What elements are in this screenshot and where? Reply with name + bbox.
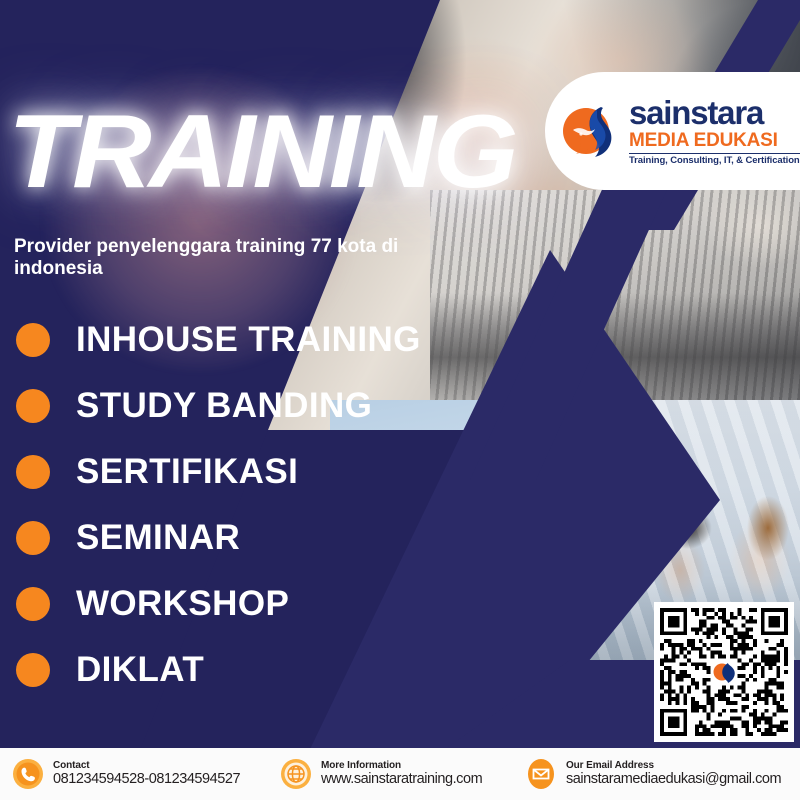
sainstara-flame-map-logo-icon (559, 100, 621, 162)
brand-name: sainstara (629, 96, 800, 129)
brand-tagline: Training, Consulting, IT, & Certificatio… (629, 153, 800, 166)
service-label: DIKLAT (76, 650, 204, 690)
globe-icon (280, 758, 312, 790)
brand-subtitle: MEDIA EDUKASI (629, 131, 800, 150)
page-title: TRAINING (8, 108, 515, 197)
bullet-icon (16, 455, 50, 489)
footer-value: www.sainstaratraining.com (321, 771, 482, 787)
bullet-icon (16, 389, 50, 423)
footer-item-email[interactable]: Our Email Address sainstaramediaedukasi@… (513, 758, 800, 790)
footer-label: Contact (53, 760, 240, 771)
list-item[interactable]: WORKSHOP (16, 576, 486, 632)
footer-item-website[interactable]: More Information www.sainstaratraining.c… (268, 758, 513, 790)
list-item[interactable]: DIKLAT (16, 642, 486, 698)
footer-text-email: Our Email Address sainstaramediaedukasi@… (566, 760, 781, 787)
footer-label: Our Email Address (566, 760, 781, 771)
envelope-icon (525, 758, 557, 790)
list-item[interactable]: STUDY BANDING (16, 378, 486, 434)
service-label: STUDY BANDING (76, 386, 372, 426)
footer-label: More Information (321, 760, 482, 771)
phone-icon (12, 758, 44, 790)
list-item[interactable]: INHOUSE TRAINING (16, 312, 486, 368)
brand-logo-card[interactable]: sainstara MEDIA EDUKASI Training, Consul… (545, 72, 800, 190)
bullet-icon (16, 587, 50, 621)
footer-text-contact: Contact 081234594528-081234594527 (53, 760, 240, 787)
brand-logo-text: sainstara MEDIA EDUKASI Training, Consul… (629, 96, 800, 166)
qr-center-logo-icon (712, 660, 736, 684)
footer-contact-bar: Contact 081234594528-081234594527 (0, 748, 800, 800)
footer-value: sainstaramediaedukasi@gmail.com (566, 771, 781, 787)
footer-text-website: More Information www.sainstaratraining.c… (321, 760, 482, 787)
footer-item-contact[interactable]: Contact 081234594528-081234594527 (0, 758, 268, 790)
list-item[interactable]: SEMINAR (16, 510, 486, 566)
qr-code[interactable] (654, 602, 794, 742)
list-item[interactable]: SERTIFIKASI (16, 444, 486, 500)
service-list: INHOUSE TRAINING STUDY BANDING SERTIFIKA… (16, 312, 486, 698)
footer-value: 081234594528-081234594527 (53, 771, 240, 787)
page-subtitle: Provider penyelenggara training 77 kota … (14, 236, 414, 281)
bullet-icon (16, 653, 50, 687)
training-poster: TRAINING Provider penyelenggara training… (0, 0, 800, 800)
bullet-icon (16, 521, 50, 555)
service-label: SEMINAR (76, 518, 240, 558)
bullet-icon (16, 323, 50, 357)
service-label: SERTIFIKASI (76, 452, 298, 492)
service-label: WORKSHOP (76, 584, 289, 624)
service-label: INHOUSE TRAINING (76, 320, 421, 360)
